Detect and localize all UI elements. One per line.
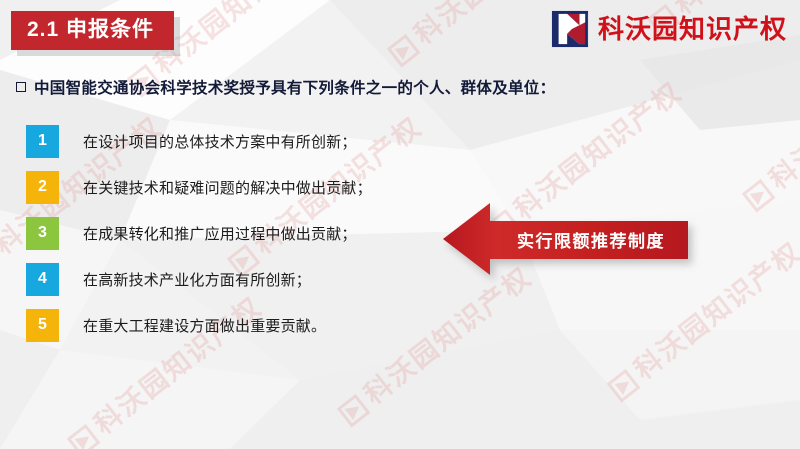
list-item-text: 在高新技术产业化方面有所创新； (83, 269, 311, 290)
conditions-list: 1 在设计项目的总体技术方案中有所创新； 2 在关键技术和疑难问题的解决中做出贡… (26, 118, 456, 348)
brand-logo: 科沃园知识产权 (551, 10, 787, 48)
slide-title-badge: 2.1 申报条件 (11, 11, 174, 50)
list-item-text: 在设计项目的总体技术方案中有所创新； (83, 131, 357, 152)
section-heading: 中国智能交通协会科学技术奖授予具有下列条件之一的个人、群体及单位： (16, 76, 555, 98)
list-item: 5 在重大工程建设方面做出重要贡献。 (26, 302, 456, 348)
list-item-text: 在重大工程建设方面做出重要贡献。 (83, 315, 326, 336)
square-bullet-icon (16, 82, 26, 92)
callout-arrow: 实行限额推荐制度 (443, 203, 688, 275)
list-item: 1 在设计项目的总体技术方案中有所创新； (26, 118, 456, 164)
section-heading-text: 中国智能交通协会科学技术奖授予具有下列条件之一的个人、群体及单位： (34, 80, 555, 97)
kewoyuan-k-mark-icon (551, 10, 589, 48)
brand-name: 科沃园知识产权 (598, 16, 787, 42)
list-item: 4 在高新技术产业化方面有所创新； (26, 256, 456, 302)
list-item-number: 2 (26, 171, 59, 204)
left-arrow-icon (443, 203, 688, 275)
list-item-number: 4 (26, 263, 59, 296)
list-item: 3 在成果转化和推广应用过程中做出贡献； (26, 210, 456, 256)
list-item-text: 在关键技术和疑难问题的解决中做出贡献； (83, 177, 372, 198)
list-item-number: 1 (26, 125, 59, 158)
slide-content: 中国智能交通协会科学技术奖授予具有下列条件之一的个人、群体及单位： 1 在设计项… (0, 0, 800, 449)
slide-canvas: 科沃园知识产权 科沃园知识产权 科沃园知识产权 科沃园知识产权 科沃园知识产权 … (0, 0, 800, 449)
list-item-text: 在成果转化和推广应用过程中做出贡献； (83, 223, 357, 244)
list-item: 2 在关键技术和疑难问题的解决中做出贡献； (26, 164, 456, 210)
list-item-number: 5 (26, 309, 59, 342)
list-item-number: 3 (26, 217, 59, 250)
